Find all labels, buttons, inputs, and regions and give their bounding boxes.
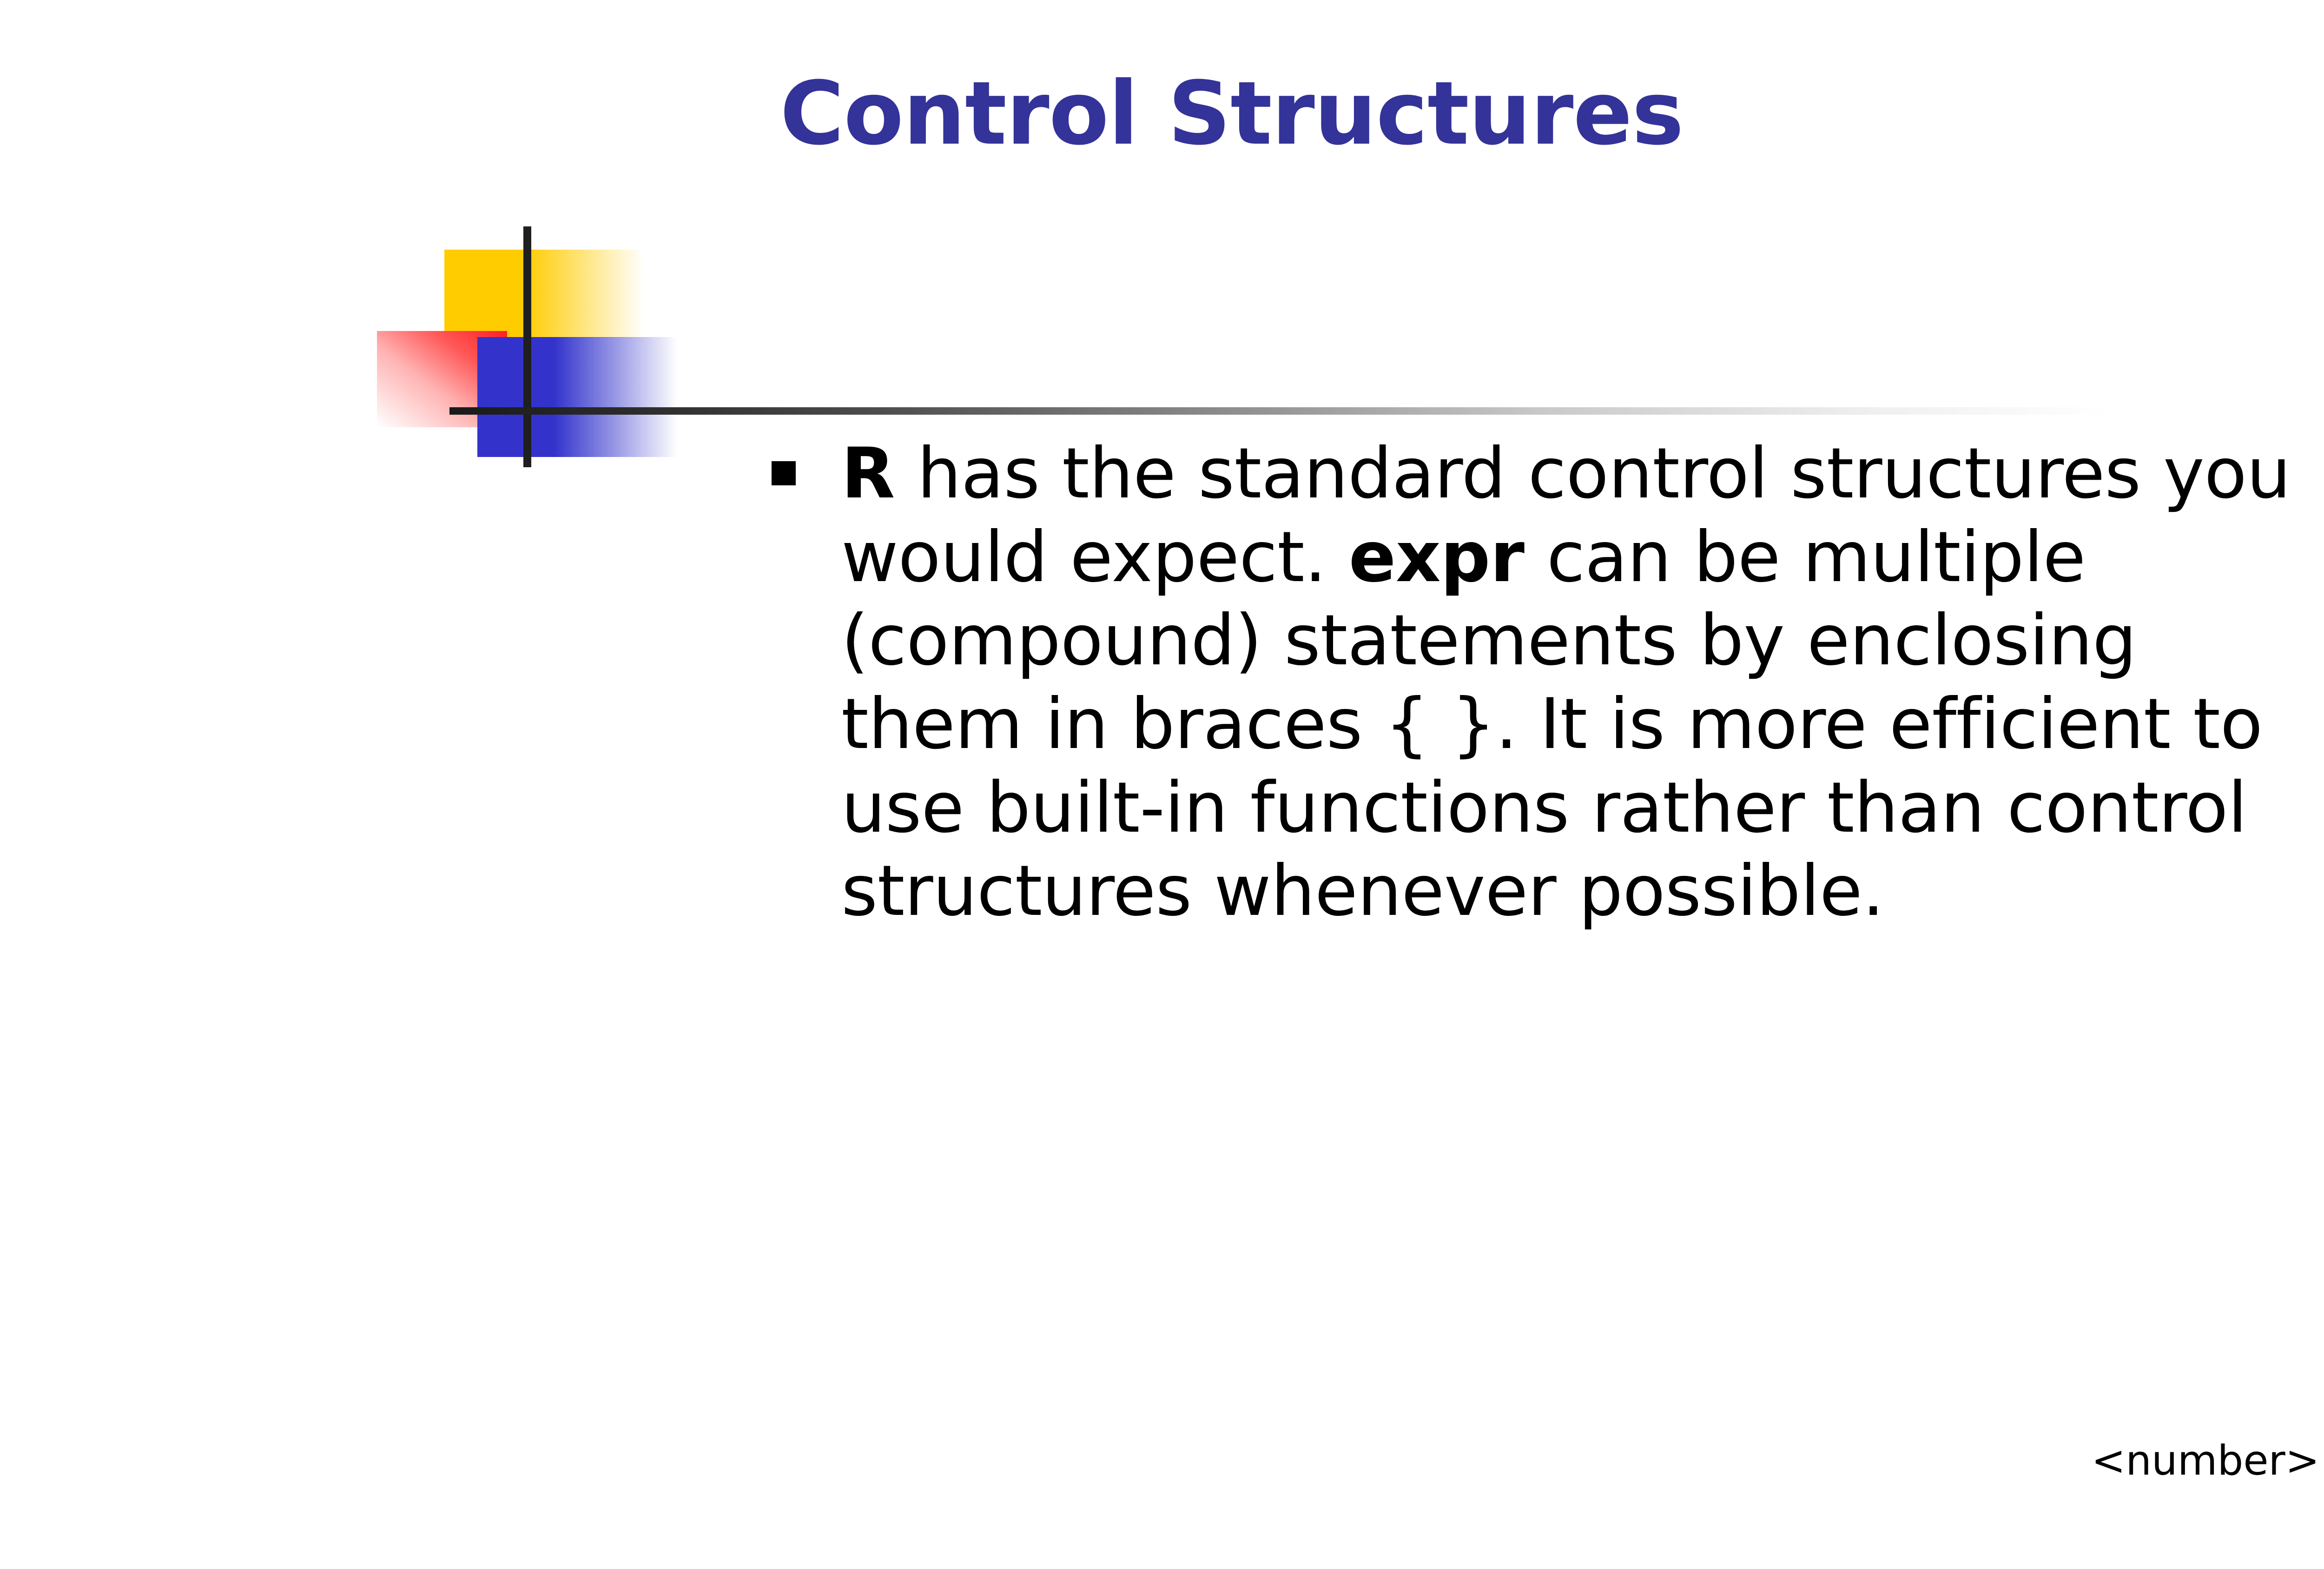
slide-number-placeholder: <number> bbox=[1999, 1440, 2324, 1481]
vertical-rule-icon bbox=[523, 226, 531, 467]
bullet-item-text: R has the standard control structures yo… bbox=[841, 432, 2305, 933]
slide-canvas: Control Structures R has the standard co… bbox=[0, 0, 2324, 1569]
horizontal-rule-icon bbox=[449, 407, 2109, 415]
content-placeholder: R has the standard control structures yo… bbox=[772, 432, 2305, 933]
blue-square-icon bbox=[477, 337, 677, 457]
red-square-icon bbox=[377, 331, 507, 427]
yellow-square-icon bbox=[444, 250, 644, 338]
square-bullet-icon bbox=[772, 461, 796, 485]
list-item: R has the standard control structures yo… bbox=[772, 432, 2305, 933]
page-title: Control Structures bbox=[279, 65, 2185, 163]
